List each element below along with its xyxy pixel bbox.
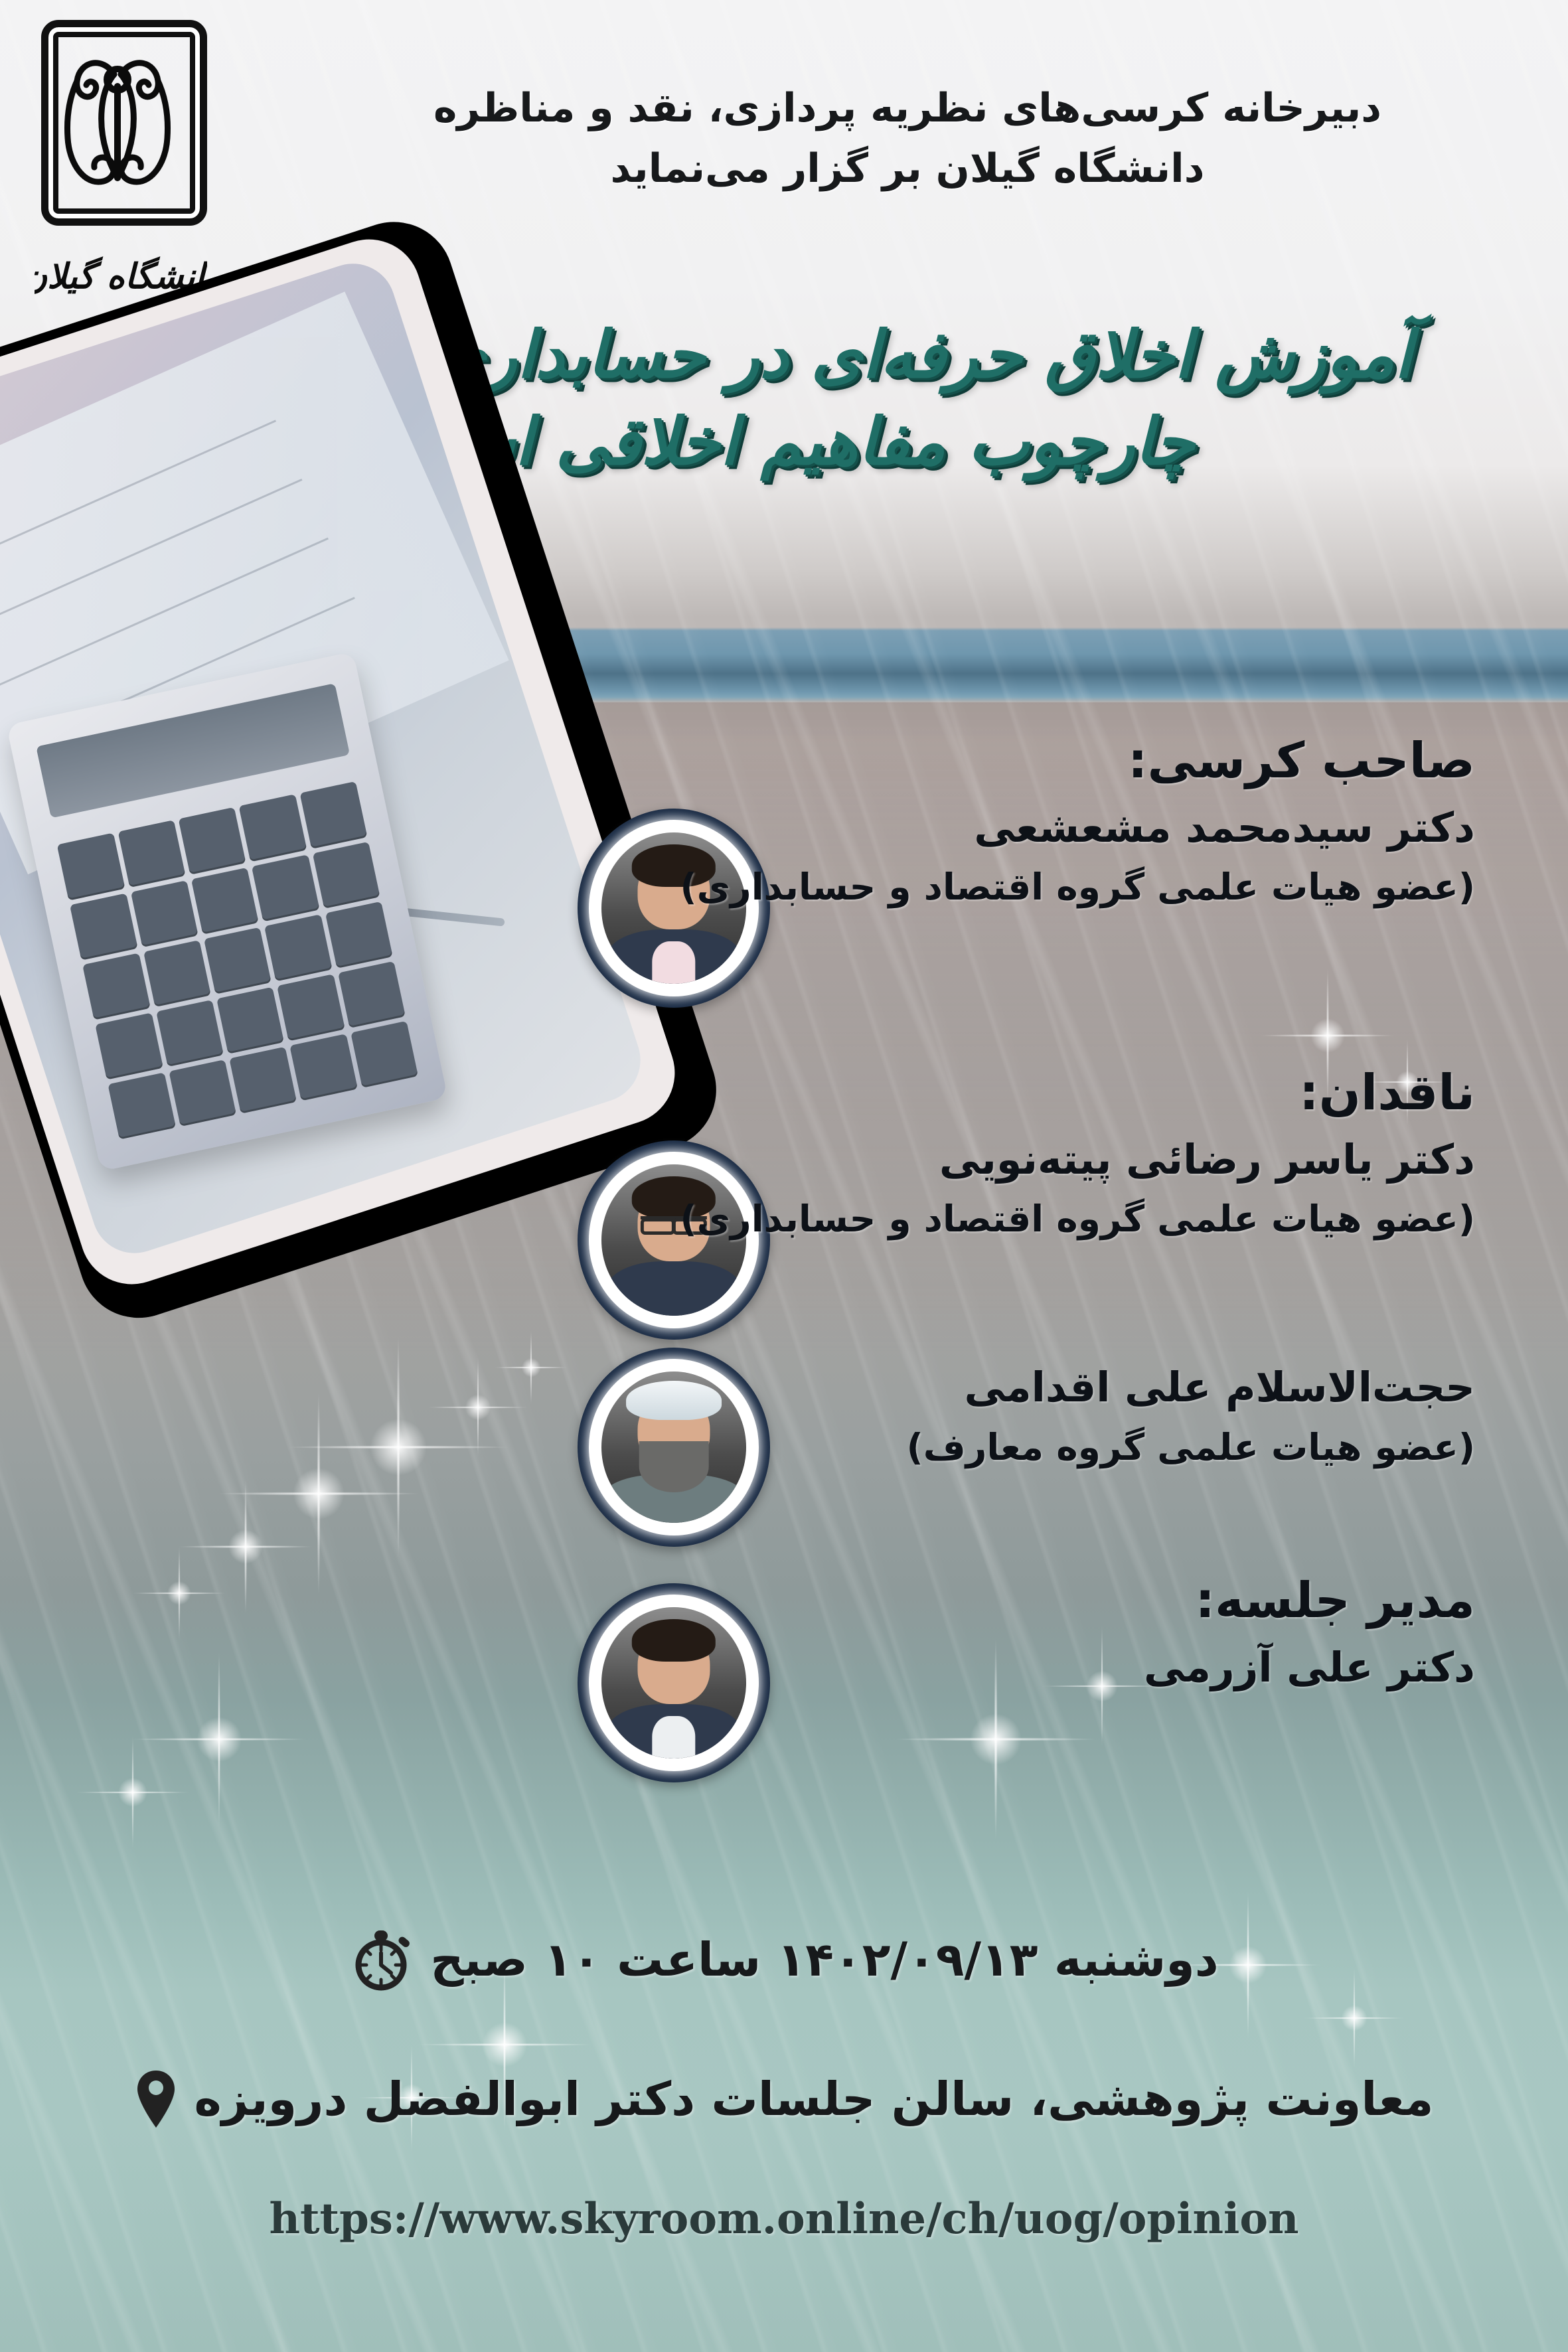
participant-name: حجت‌الاسلام علی اقدامی: [652, 1361, 1475, 1415]
event-poster: دانشگاه گیلان دبیرخانه کرسی‌های نظریه پر…: [0, 0, 1568, 2352]
participant-name: دکتر علی آزرمی: [652, 1641, 1475, 1695]
participants-section: صاحب کرسی: دکتر سیدمحمد مشعشعی (عضو هیات…: [0, 730, 1568, 1660]
organizer-line-1: دبیرخانه کرسی‌های نظریه پردازی، نقد و من…: [327, 78, 1488, 139]
participant-name: دکتر یاسر رضائی پیته‌نویی: [652, 1133, 1475, 1187]
stopwatch-icon: [349, 1925, 413, 1994]
guilan-butterfly-icon: [57, 45, 178, 202]
participant-text: مدیر جلسه: دکتر علی آزرمی: [652, 1570, 1475, 1694]
meeting-url-row[interactable]: https://www.skyroom.online/ch/uog/opinio…: [0, 2194, 1568, 2244]
role-label: ناقدان:: [652, 1062, 1475, 1124]
participant-text: ناقدان: دکتر یاسر رضائی پیته‌نویی (عضو ه…: [652, 1062, 1475, 1243]
organizer-line-2: دانشگاه گیلان بر گزار می‌نماید: [327, 139, 1488, 199]
participant-affiliation: (عضو هیات علمی گروه اقتصاد و حسابداری): [652, 1194, 1475, 1243]
datetime-row: دوشنبه ۱۴۰۲/۰۹/۱۳ ساعت ۱۰ صبح: [0, 1925, 1568, 1994]
datetime-text: دوشنبه ۱۴۰۲/۰۹/۱۳ ساعت ۱۰ صبح: [430, 1932, 1218, 1988]
location-text: معاونت پژوهشی، سالن جلسات دکتر ابوالفضل …: [195, 2071, 1434, 2127]
participant-affiliation: (عضو هیات علمی گروه معارف): [652, 1423, 1475, 1472]
participant-session-manager: مدیر جلسه: دکتر علی آزرمی: [0, 1563, 1568, 1782]
location-row: معاونت پژوهشی، سالن جلسات دکتر ابوالفضل …: [0, 2068, 1568, 2130]
map-pin-icon: [135, 2068, 177, 2130]
participant-name: دکتر سیدمحمد مشعشعی: [652, 801, 1475, 855]
participant-text: صاحب کرسی: دکتر سیدمحمد مشعشعی (عضو هیات…: [652, 730, 1475, 911]
participant-critic-one: ناقدان: دکتر یاسر رضائی پیته‌نویی (عضو ه…: [0, 1062, 1568, 1341]
event-footer: دوشنبه ۱۴۰۲/۰۹/۱۳ ساعت ۱۰ صبح: [0, 1912, 1568, 2323]
meeting-url[interactable]: https://www.skyroom.online/ch/uog/opinio…: [269, 2194, 1298, 2244]
organizer-header: دبیرخانه کرسی‌های نظریه پردازی، نقد و من…: [327, 78, 1488, 199]
role-label: مدیر جلسه:: [652, 1570, 1475, 1632]
role-label: صاحب کرسی:: [652, 730, 1475, 792]
participant-chair-holder: صاحب کرسی: دکتر سیدمحمد مشعشعی (عضو هیات…: [0, 730, 1568, 1016]
university-logo: دانشگاه گیلان: [35, 20, 227, 312]
participant-critic-two: حجت‌الاسلام علی اقدامی (عضو هیات علمی گر…: [0, 1334, 1568, 1573]
participant-text: حجت‌الاسلام علی اقدامی (عضو هیات علمی گر…: [652, 1361, 1475, 1472]
participant-affiliation: (عضو هیات علمی گروه اقتصاد و حسابداری): [652, 862, 1475, 911]
